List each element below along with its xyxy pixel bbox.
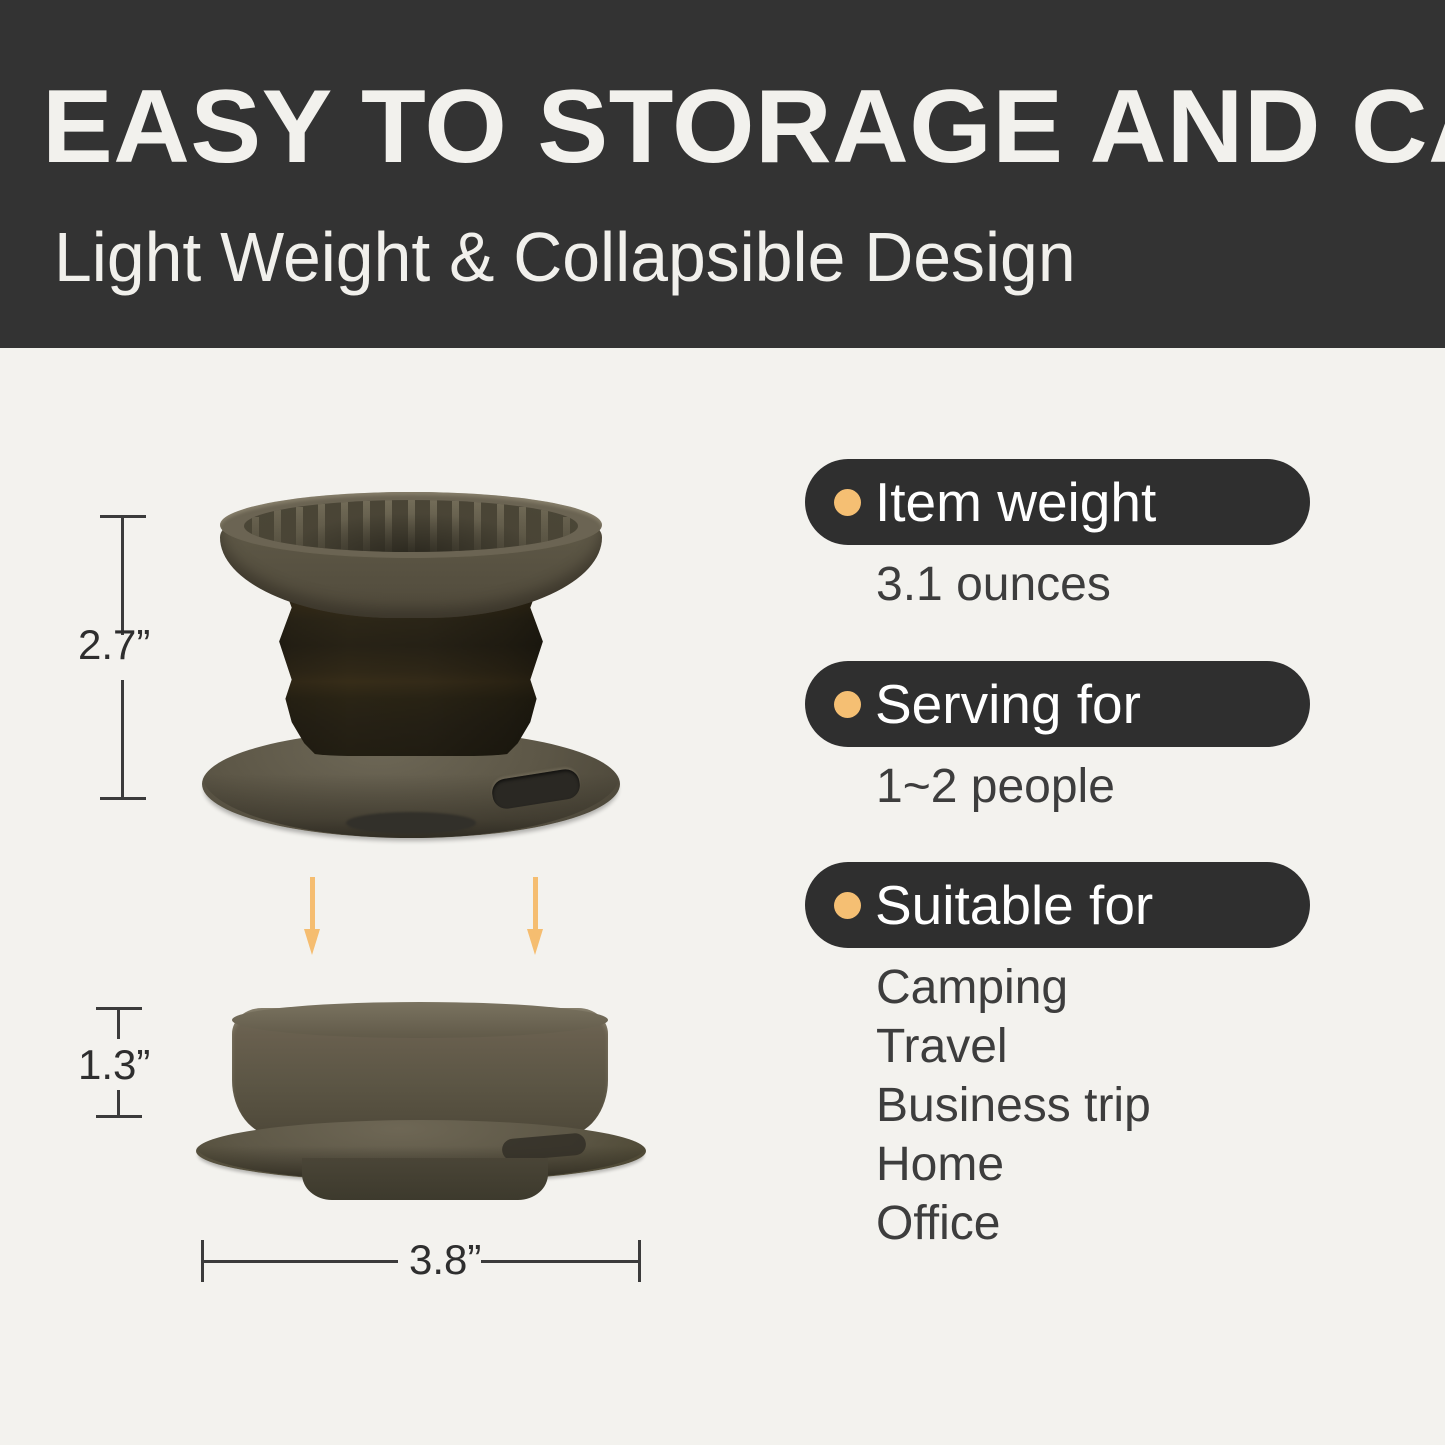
spec-value: 1~2 people	[876, 757, 1115, 816]
collapse-arrow-left	[304, 877, 321, 955]
spec-pill-serving-for[interactable]: Serving for	[805, 661, 1310, 747]
spec-label: Suitable for	[875, 876, 1153, 934]
spec-pill-suitable-for[interactable]: Suitable for	[805, 862, 1310, 948]
dim-cap-right	[638, 1240, 641, 1282]
dripper-base-foot	[346, 812, 476, 834]
arrow-head	[527, 929, 543, 955]
product-image-expanded-dripper	[196, 492, 626, 842]
collapse-arrow-right	[527, 877, 544, 955]
dim-line-lower	[121, 680, 124, 800]
spec-value: Office	[876, 1194, 1151, 1253]
spec-value: Travel	[876, 1017, 1151, 1076]
spec-value: 3.1 ounces	[876, 555, 1111, 614]
arrow-shaft	[310, 877, 315, 929]
spec-values: 3.1 ounces	[876, 555, 1111, 614]
bullet-dot-icon	[834, 892, 861, 919]
dim-line-left	[201, 1260, 398, 1263]
spec-label: Serving for	[875, 675, 1141, 733]
dim-line-upper	[117, 1007, 120, 1039]
dim-line-lower	[117, 1090, 120, 1118]
arrow-head	[304, 929, 320, 955]
dim-cap-bottom	[100, 797, 146, 800]
bullet-dot-icon	[834, 691, 861, 718]
spec-pill-item-weight[interactable]: Item weight	[805, 459, 1310, 545]
product-image-collapsed-dripper	[196, 1000, 646, 1200]
dimension-label-2-7: 2.7”	[78, 622, 150, 668]
spec-value: Business trip	[876, 1076, 1151, 1135]
dim-cap-bottom	[96, 1115, 142, 1118]
bullet-dot-icon	[834, 489, 861, 516]
arrow-shaft	[533, 877, 538, 929]
dim-line-right	[481, 1260, 641, 1263]
dim-line-upper	[121, 515, 124, 635]
spec-label: Item weight	[875, 473, 1156, 531]
spec-values: 1~2 people	[876, 757, 1115, 816]
dimension-label-1-3: 1.3”	[78, 1042, 150, 1088]
dripper-interior-shadow	[244, 500, 578, 552]
spec-value: Home	[876, 1135, 1151, 1194]
page-subtitle: Light Weight & Collapsible Design	[54, 215, 1076, 299]
header-band: EASY TO STORAGE AND CARRY Light Weight &…	[0, 0, 1445, 348]
dimension-label-3-8: 3.8”	[409, 1237, 481, 1283]
infographic-page: EASY TO STORAGE AND CARRY Light Weight &…	[0, 0, 1445, 1445]
spec-value: Camping	[876, 958, 1151, 1017]
page-title: EASY TO STORAGE AND CARRY	[42, 72, 1445, 182]
collapsed-bowl-rim	[232, 1002, 608, 1038]
collapsed-foot	[302, 1158, 548, 1200]
spec-values-list: Camping Travel Business trip Home Office	[876, 958, 1151, 1253]
